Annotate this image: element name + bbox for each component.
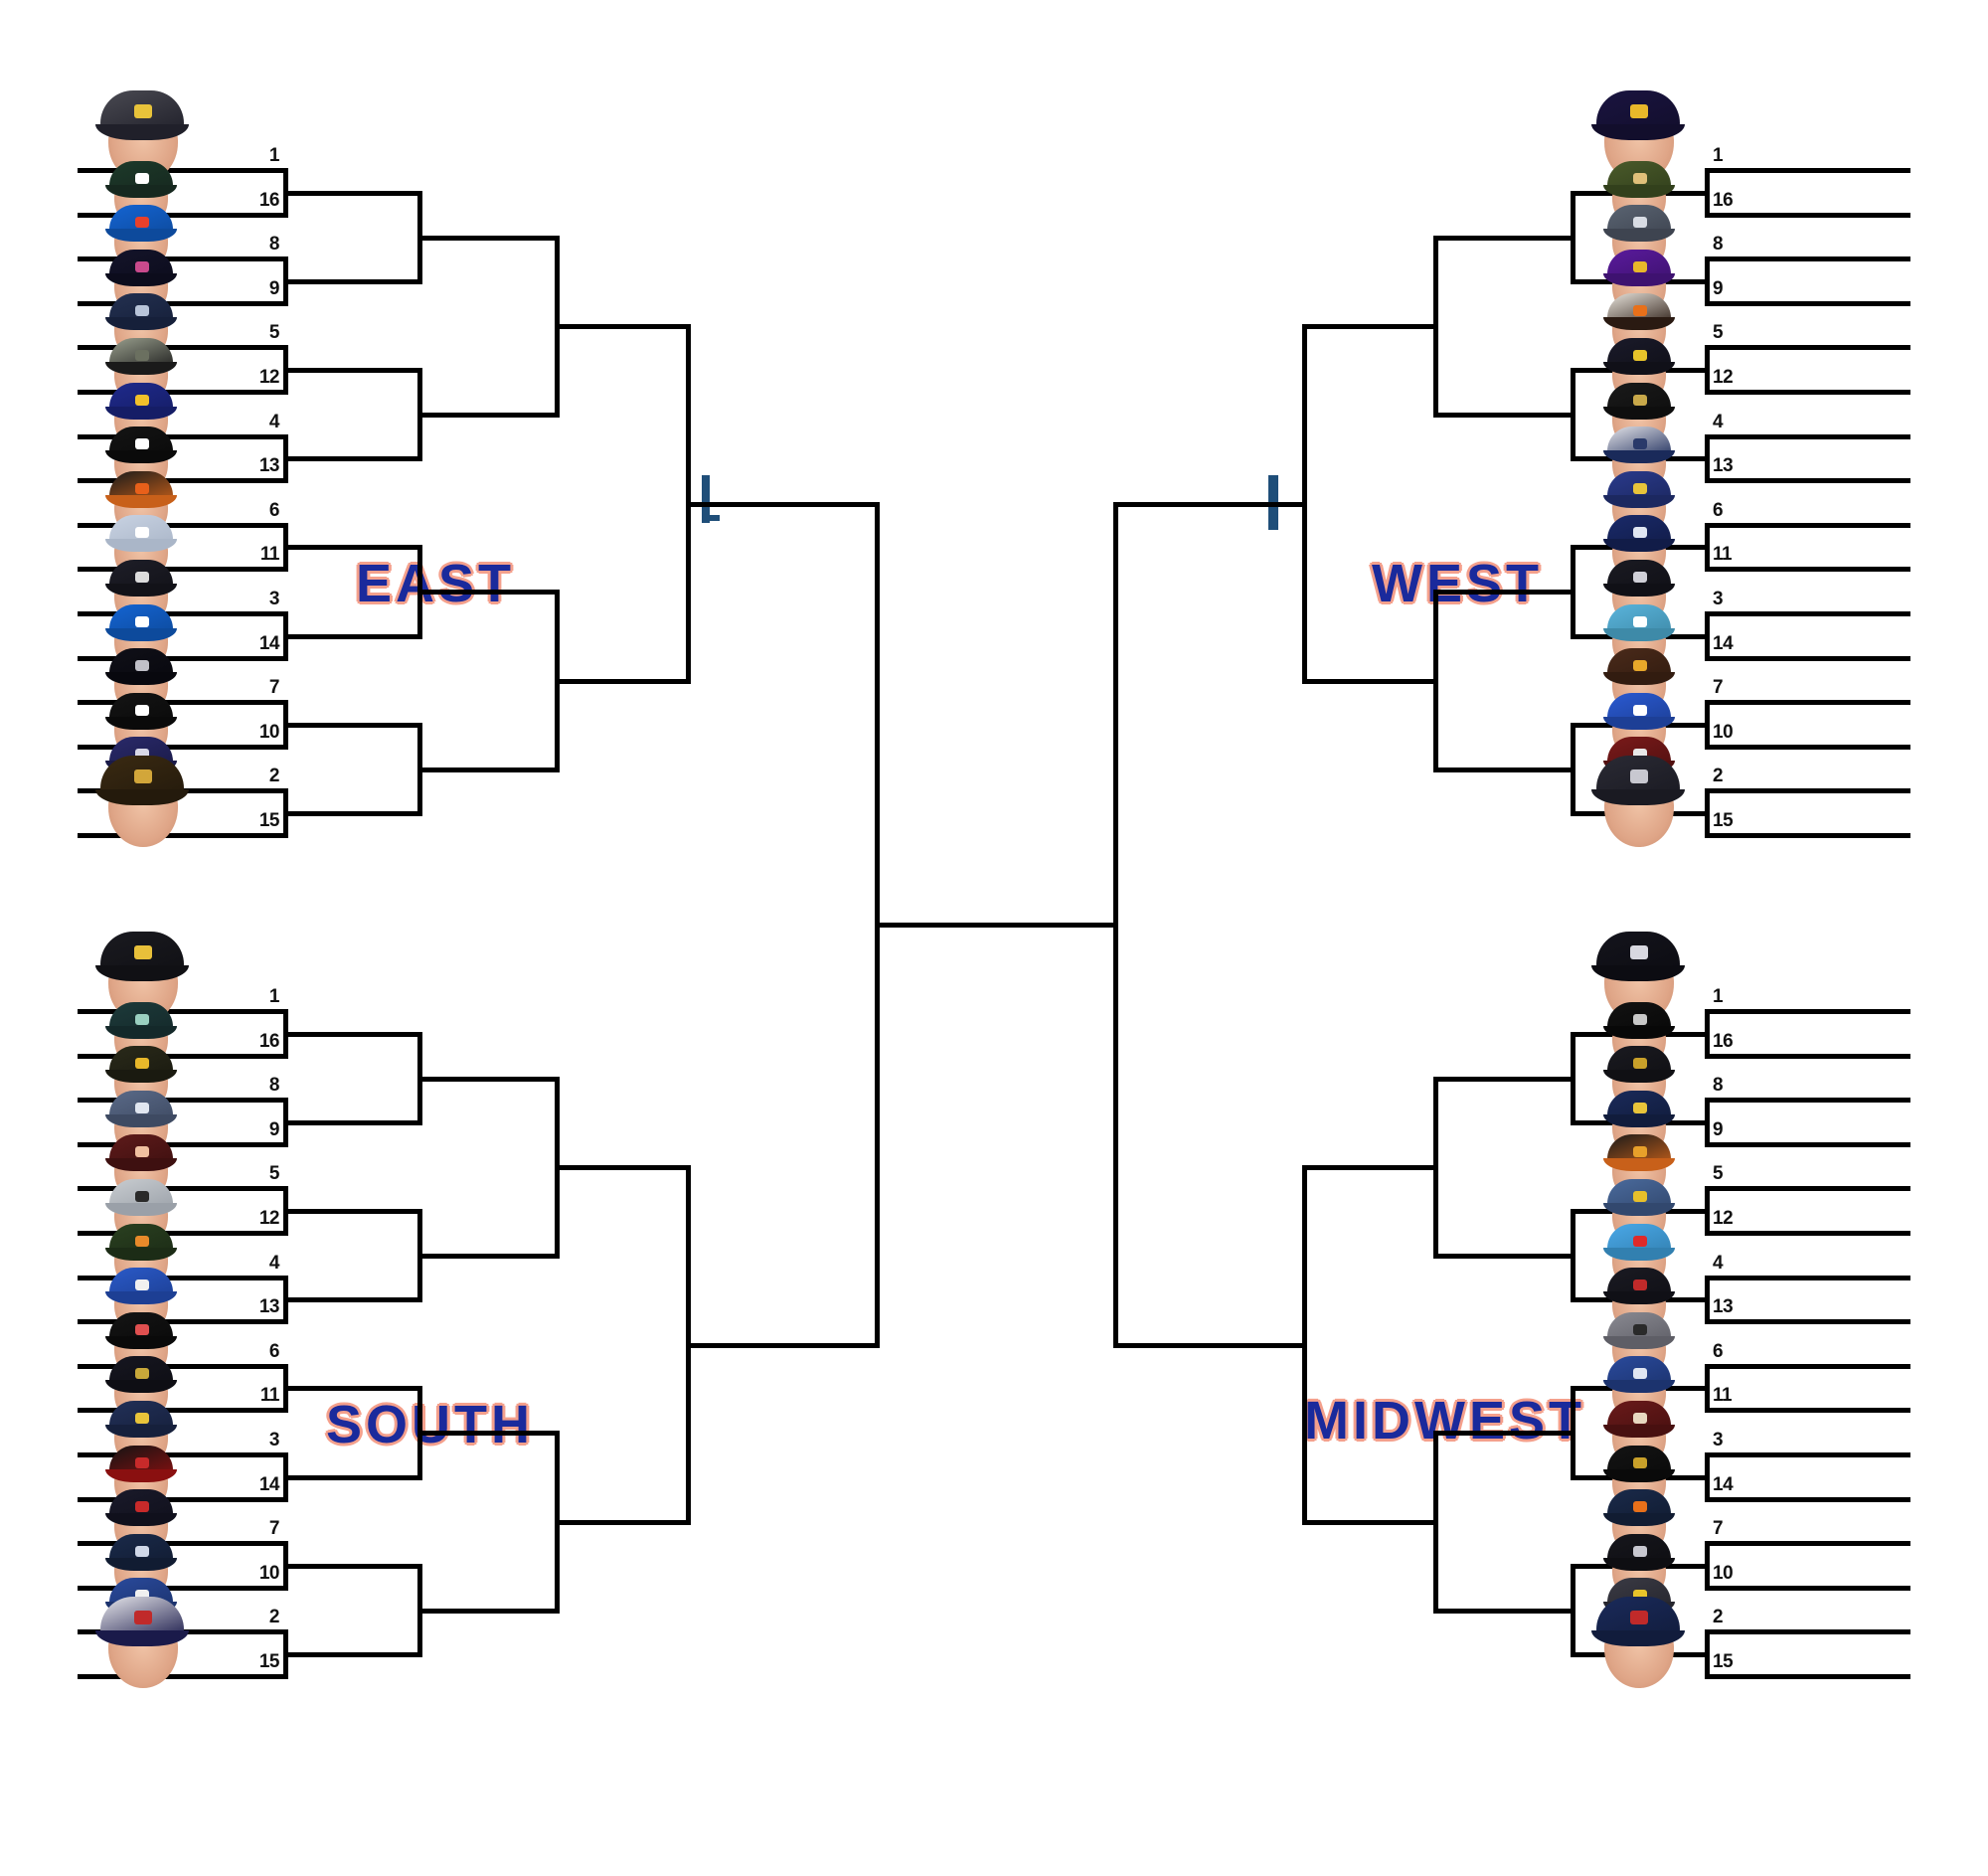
- portrait-face: [114, 1020, 168, 1070]
- bracket-connector-vertical: [1571, 545, 1575, 639]
- bracket-connector-horizontal: [1433, 413, 1571, 418]
- bracket-connector-horizontal: [994, 923, 1113, 928]
- cap-logo-icon: [1633, 749, 1647, 760]
- portrait-face: [1612, 1197, 1666, 1247]
- cap-logo-icon: [1633, 1058, 1647, 1069]
- seed-number: 1: [1713, 146, 1752, 165]
- region-label-midwest-text: MIDWEST: [1304, 1391, 1585, 1450]
- bracket-connector-vertical: [1705, 168, 1710, 218]
- contestant-portrait: [105, 640, 179, 718]
- portrait-face: [114, 311, 168, 361]
- baseball-cap-icon: [109, 648, 173, 682]
- portrait-face: [1612, 1152, 1666, 1202]
- bracket-connector-horizontal: [1302, 1520, 1433, 1525]
- cap-brim: [1603, 1602, 1675, 1615]
- portrait-face: [114, 1242, 168, 1291]
- baseball-cap-icon: [109, 338, 173, 372]
- cap-logo-icon: [1630, 769, 1648, 783]
- cap-brim: [1603, 584, 1675, 597]
- baseball-cap-icon: [109, 1446, 173, 1479]
- cap-brim: [105, 1513, 177, 1526]
- portrait-face: [114, 533, 168, 583]
- bracket-connector-horizontal: [283, 1209, 417, 1214]
- cap-logo-icon: [1633, 572, 1647, 583]
- bracket-connector-horizontal: [78, 788, 283, 793]
- contestant-portrait: [105, 1481, 179, 1559]
- bracket-connector-vertical: [1433, 1431, 1438, 1614]
- bracket-connector-vertical: [1433, 1077, 1438, 1259]
- baseball-cap-icon: [109, 604, 173, 638]
- seed-number: 5: [240, 1164, 279, 1183]
- portrait-face: [1612, 1419, 1666, 1468]
- cap-logo-icon: [1633, 438, 1647, 449]
- portrait-face: [114, 711, 168, 761]
- contestant-portrait: [105, 1570, 179, 1647]
- portrait-face: [1612, 356, 1666, 406]
- seed-number: 9: [1713, 1120, 1752, 1139]
- cap-logo-icon: [134, 769, 152, 783]
- seed-number: 3: [240, 1431, 279, 1450]
- portrait-face: [1612, 444, 1666, 494]
- bracket-connector-horizontal: [1571, 1564, 1705, 1569]
- bracket-connector-vertical: [1705, 1452, 1710, 1502]
- baseball-cap-icon: [109, 1534, 173, 1568]
- contestant-portrait: [1603, 552, 1677, 629]
- baseball-cap-icon: [109, 293, 173, 327]
- bracket-connector-horizontal: [1571, 1032, 1705, 1037]
- seed-number: 16: [1713, 1032, 1752, 1051]
- bracket-connector-horizontal: [875, 923, 994, 928]
- bracket-connector-horizontal: [555, 679, 686, 684]
- seed-number: 12: [1713, 1209, 1752, 1228]
- seed-number: 15: [240, 811, 279, 830]
- cap-brim: [105, 1203, 177, 1216]
- bracket-connector-horizontal: [283, 191, 417, 196]
- cap-brim: [105, 1114, 177, 1127]
- seed-number: 11: [1713, 1386, 1752, 1405]
- tournament-bracket: EAST SOUTH WEST MIDWEST 1168951241361131…: [0, 0, 1988, 1876]
- bracket-connector-horizontal: [283, 1652, 417, 1657]
- bracket-connector-vertical: [1433, 236, 1438, 418]
- seed-number: 7: [1713, 678, 1752, 697]
- seed-number: 2: [1713, 767, 1752, 785]
- cap-logo-icon: [135, 1146, 149, 1157]
- bracket-connector-vertical: [1302, 324, 1307, 684]
- baseball-cap-icon: [109, 1091, 173, 1124]
- cap-logo-icon: [135, 1236, 149, 1247]
- bracket-connector-horizontal: [78, 1408, 283, 1413]
- baseball-cap-icon: [109, 1578, 173, 1612]
- seed-number: 13: [240, 456, 279, 475]
- bracket-connector-vertical: [1705, 434, 1710, 483]
- seed-number: 1: [1713, 987, 1752, 1006]
- seed-number: 1: [240, 987, 279, 1006]
- portrait-face: [1612, 1463, 1666, 1513]
- cap-logo-icon: [135, 1103, 149, 1113]
- seed-number: 15: [1713, 1652, 1752, 1671]
- cap-brim: [105, 1291, 177, 1304]
- cap-brim: [105, 628, 177, 641]
- baseball-cap-icon: [100, 90, 184, 134]
- cap-logo-icon: [1633, 305, 1647, 316]
- cap-brim: [1603, 1070, 1675, 1083]
- baseball-cap-icon: [109, 383, 173, 417]
- baseball-cap-icon: [100, 932, 184, 975]
- bracket-connector-vertical: [1705, 523, 1710, 572]
- baseball-cap-icon: [1607, 1578, 1671, 1612]
- seed-number: 5: [240, 323, 279, 342]
- baseball-cap-icon: [109, 1356, 173, 1390]
- bracket-connector-horizontal: [78, 1319, 283, 1324]
- seed-number: 8: [240, 1076, 279, 1095]
- seed-number: 11: [1713, 545, 1752, 564]
- contestant-portrait: [105, 285, 179, 363]
- seed-number: 8: [240, 235, 279, 254]
- seed-number: 14: [1713, 634, 1752, 653]
- portrait-face: [114, 1596, 168, 1645]
- bracket-connector-horizontal: [1571, 545, 1705, 550]
- portrait-face: [114, 179, 168, 229]
- contestant-portrait: [105, 994, 179, 1072]
- bracket-connector-vertical: [1705, 1629, 1710, 1679]
- portrait-face: [1612, 1285, 1666, 1335]
- portrait-face: [1612, 223, 1666, 272]
- portrait-face: [114, 1552, 168, 1602]
- bracket-connector-horizontal: [78, 1276, 283, 1280]
- portrait-face: [114, 755, 168, 804]
- cap-logo-icon: [135, 395, 149, 406]
- cap-brim: [105, 672, 177, 685]
- portrait-face: [1612, 1330, 1666, 1380]
- baseball-cap-icon: [109, 1046, 173, 1080]
- cap-logo-icon: [1633, 705, 1647, 716]
- cap-brim: [105, 229, 177, 242]
- baseball-cap-icon: [1607, 1091, 1671, 1124]
- bracket-connector-horizontal: [283, 811, 417, 816]
- portrait-face: [114, 578, 168, 627]
- portrait-face: [1612, 311, 1666, 361]
- cap-logo-icon: [135, 1014, 149, 1025]
- bracket-connector-horizontal: [1705, 523, 1910, 528]
- cap-logo-icon: [1633, 1368, 1647, 1379]
- contestant-portrait: [1603, 1038, 1677, 1115]
- cap-logo-icon: [1633, 660, 1647, 671]
- cap-logo-icon: [1633, 616, 1647, 627]
- cap-brim: [95, 965, 189, 981]
- cap-logo-icon: [1633, 1236, 1647, 1247]
- cap-brim: [1603, 229, 1675, 242]
- bracket-connector-horizontal: [1705, 1186, 1910, 1191]
- bracket-connector-horizontal: [417, 236, 555, 241]
- baseball-cap-icon: [1607, 1002, 1671, 1036]
- cap-brim: [1603, 1513, 1675, 1526]
- portrait-face: [1612, 533, 1666, 583]
- baseball-cap-icon: [1607, 1534, 1671, 1568]
- cap-logo-icon: [135, 217, 149, 228]
- bracket-connector-vertical: [1571, 1032, 1575, 1125]
- portrait-face: [1612, 1242, 1666, 1291]
- baseball-cap-icon: [109, 1179, 173, 1213]
- cap-logo-icon: [1633, 1014, 1647, 1025]
- baseball-cap-icon: [1607, 471, 1671, 505]
- bracket-connector-horizontal: [1571, 191, 1705, 196]
- cap-logo-icon: [1630, 1611, 1648, 1624]
- bracket-connector-horizontal: [283, 279, 417, 284]
- cap-brim: [1603, 1336, 1675, 1349]
- bracket-connector-horizontal: [417, 1254, 555, 1259]
- seed-number: 4: [1713, 1254, 1752, 1273]
- cap-logo-icon: [1633, 1324, 1647, 1335]
- contestant-portrait: [105, 507, 179, 585]
- seed-number: 6: [240, 1342, 279, 1361]
- bracket-connector-horizontal: [283, 1032, 417, 1037]
- portrait-face: [1612, 1109, 1666, 1158]
- bracket-connector-horizontal: [1705, 1497, 1910, 1502]
- bracket-connector-horizontal: [1705, 390, 1910, 395]
- portrait-face: [1612, 1596, 1666, 1645]
- bracket-connector-horizontal: [555, 1520, 686, 1525]
- contestant-portrait: [1603, 375, 1677, 452]
- bracket-connector-horizontal: [1571, 811, 1705, 816]
- baseball-cap-icon: [1596, 90, 1680, 134]
- cap-brim: [105, 495, 177, 508]
- seed-number: 13: [1713, 456, 1752, 475]
- bracket-connector-horizontal: [78, 1586, 283, 1591]
- contestant-portrait: [1591, 1589, 1687, 1692]
- bracket-connector-horizontal: [78, 1231, 283, 1236]
- cap-logo-icon: [1633, 1546, 1647, 1557]
- bracket-connector-horizontal: [1113, 1343, 1302, 1348]
- cap-brim: [105, 185, 177, 198]
- baseball-cap-icon: [109, 1489, 173, 1523]
- baseball-cap-icon: [1607, 560, 1671, 594]
- seed-number: 9: [1713, 279, 1752, 298]
- cap-brim: [1591, 789, 1685, 805]
- seed-number: 10: [1713, 723, 1752, 742]
- cap-brim: [105, 1469, 177, 1482]
- bracket-connector-horizontal: [283, 1386, 417, 1391]
- bracket-connector-horizontal: [417, 1077, 555, 1082]
- bracket-connector-horizontal: [1705, 1629, 1910, 1634]
- cap-logo-icon: [135, 660, 149, 671]
- cap-logo-icon: [134, 945, 152, 959]
- bracket-connector-vertical: [1705, 1009, 1710, 1059]
- baseball-cap-icon: [1607, 1489, 1671, 1523]
- cap-brim: [1603, 672, 1675, 685]
- contestant-portrait: [105, 1216, 179, 1293]
- seed-number: 10: [240, 1564, 279, 1583]
- cap-brim: [1591, 124, 1685, 140]
- cap-logo-icon: [1630, 104, 1648, 118]
- bracket-connector-horizontal: [1705, 656, 1910, 661]
- baseball-cap-icon: [1607, 515, 1671, 549]
- seed-number: 13: [1713, 1297, 1752, 1316]
- bracket-connector-horizontal: [1113, 502, 1302, 507]
- region-label-west: WEST: [1372, 553, 1543, 614]
- portrait-face: [1612, 1064, 1666, 1113]
- baseball-cap-icon: [109, 426, 173, 460]
- seed-number: 5: [1713, 323, 1752, 342]
- baseball-cap-icon: [1607, 1446, 1671, 1479]
- cap-logo-icon: [135, 572, 149, 583]
- bracket-connector-horizontal: [1571, 279, 1705, 284]
- bracket-connector-horizontal: [78, 1054, 283, 1059]
- contestant-portrait: [1591, 83, 1687, 186]
- bracket-connector-horizontal: [417, 590, 555, 595]
- contestant-portrait: [105, 597, 179, 674]
- baseball-cap-icon: [109, 737, 173, 770]
- cap-logo-icon: [1633, 173, 1647, 184]
- bracket-connector-horizontal: [78, 611, 283, 616]
- bracket-connector-horizontal: [1705, 478, 1910, 483]
- baseball-cap-icon: [109, 205, 173, 239]
- cap-logo-icon: [135, 1413, 149, 1424]
- bracket-connector-horizontal: [78, 478, 283, 483]
- seed-number: 6: [1713, 1342, 1752, 1361]
- bracket-connector-vertical: [1705, 1541, 1710, 1591]
- portrait-face: [114, 489, 168, 539]
- bracket-connector-horizontal: [1705, 1231, 1910, 1236]
- baseball-cap-icon: [1607, 383, 1671, 417]
- baseball-cap-icon: [1607, 1312, 1671, 1346]
- cap-brim: [105, 761, 177, 773]
- cap-brim: [105, 1380, 177, 1393]
- bracket-connector-horizontal: [1571, 1297, 1705, 1302]
- seed-number: 2: [1713, 1608, 1752, 1626]
- portrait-face: [1612, 711, 1666, 761]
- contestant-portrait: [105, 1438, 179, 1515]
- portrait-face: [1612, 401, 1666, 450]
- contestant-portrait: [105, 729, 179, 806]
- baseball-cap-icon: [109, 1224, 173, 1258]
- bracket-connector-horizontal: [417, 767, 555, 772]
- cap-logo-icon: [135, 305, 149, 316]
- portrait-face: [114, 1109, 168, 1158]
- seed-number: 12: [1713, 368, 1752, 387]
- cap-brim: [1603, 407, 1675, 420]
- cap-logo-icon: [1633, 1413, 1647, 1424]
- cap-logo-icon: [1633, 1146, 1647, 1157]
- seed-number: 3: [240, 590, 279, 608]
- cap-logo-icon: [135, 1324, 149, 1335]
- cap-brim: [1591, 1630, 1685, 1646]
- bracket-connector-horizontal: [78, 390, 283, 395]
- region-label-south: SOUTH: [326, 1394, 534, 1455]
- bracket-connector-horizontal: [78, 168, 283, 173]
- baseball-cap-icon: [1607, 338, 1671, 372]
- seed-number: 12: [240, 1209, 279, 1228]
- bracket-connector-horizontal: [283, 456, 417, 461]
- contestant-portrait: [105, 1304, 179, 1382]
- bracket-connector-horizontal: [1705, 1408, 1910, 1413]
- cap-brim: [1603, 1158, 1675, 1171]
- cap-logo-icon: [1630, 945, 1648, 959]
- bracket-connector-horizontal: [78, 1541, 283, 1546]
- contestant-portrait: [105, 153, 179, 231]
- region-label-east: EAST: [356, 553, 515, 614]
- portrait-face: [1612, 755, 1666, 804]
- baseball-cap-icon: [1607, 648, 1671, 682]
- bracket-connector-horizontal: [1705, 567, 1910, 572]
- bracket-connector-horizontal: [78, 656, 283, 661]
- contestant-portrait: [105, 375, 179, 452]
- cap-logo-icon: [135, 616, 149, 627]
- bracket-connector-horizontal: [1705, 700, 1910, 705]
- bracket-connector-horizontal: [1571, 1386, 1705, 1391]
- region-label-east-text: EAST: [356, 554, 515, 613]
- bracket-connector-horizontal: [1705, 1142, 1910, 1147]
- contestant-portrait: [105, 1526, 179, 1604]
- bracket-connector-horizontal: [1705, 1586, 1910, 1591]
- portrait-face: [1604, 116, 1674, 182]
- baseball-cap-icon: [1607, 1179, 1671, 1213]
- cap-logo-icon: [135, 1590, 149, 1601]
- bracket-connector-vertical: [1571, 1209, 1575, 1302]
- seed-number: 14: [1713, 1475, 1752, 1494]
- bracket-connector-horizontal: [283, 1475, 417, 1480]
- bracket-connector-horizontal: [1571, 1120, 1705, 1125]
- bracket-connector-horizontal: [417, 1431, 555, 1436]
- cap-logo-icon: [1633, 395, 1647, 406]
- seed-number: 2: [240, 1608, 279, 1626]
- portrait-face: [1612, 1020, 1666, 1070]
- baseball-cap-icon: [109, 471, 173, 505]
- bracket-connector-horizontal: [686, 502, 875, 507]
- bracket-connector-vertical: [1705, 611, 1710, 661]
- bracket-connector-horizontal: [78, 301, 283, 306]
- baseball-cap-icon: [109, 1002, 173, 1036]
- cap-brim: [1603, 1425, 1675, 1438]
- seed-number: 16: [240, 191, 279, 210]
- portrait-face: [114, 444, 168, 494]
- baseball-cap-icon: [1607, 250, 1671, 283]
- contestant-portrait: [105, 330, 179, 408]
- baseball-cap-icon: [1607, 1268, 1671, 1301]
- seed-number: 7: [240, 678, 279, 697]
- baseball-cap-icon: [1607, 604, 1671, 638]
- seed-number: 14: [240, 634, 279, 653]
- cap-brim: [105, 1248, 177, 1261]
- bracket-connector-horizontal: [1705, 213, 1910, 218]
- bracket-connector-horizontal: [1705, 1009, 1910, 1014]
- seed-number: 4: [1713, 413, 1752, 431]
- bracket-connector-horizontal: [1705, 1276, 1910, 1280]
- bracket-connector-horizontal: [1705, 1452, 1910, 1457]
- portrait-face: [114, 1419, 168, 1468]
- cap-logo-icon: [135, 527, 149, 538]
- cap-brim: [105, 1602, 177, 1615]
- portrait-face: [1612, 1374, 1666, 1424]
- bracket-connector-horizontal: [1705, 611, 1910, 616]
- bracket-connector-horizontal: [417, 413, 555, 418]
- baseball-cap-icon: [1607, 693, 1671, 727]
- bracket-connector-horizontal: [1705, 1541, 1910, 1546]
- bracket-connector-vertical: [1433, 590, 1438, 772]
- bracket-connector-vertical: [1705, 788, 1710, 838]
- cap-logo-icon: [134, 1611, 152, 1624]
- region-label-south-text: SOUTH: [326, 1395, 534, 1454]
- cap-brim: [1603, 495, 1675, 508]
- cap-brim: [105, 717, 177, 730]
- contestant-portrait: [1591, 748, 1687, 851]
- seed-number: 10: [1713, 1564, 1752, 1583]
- bracket-connector-horizontal: [1571, 634, 1705, 639]
- bracket-connector-horizontal: [283, 545, 417, 550]
- portrait-face: [114, 1152, 168, 1202]
- contestant-portrait: [105, 1393, 179, 1470]
- bracket-connector-horizontal: [1705, 168, 1910, 173]
- bracket-connector-horizontal: [1705, 1054, 1910, 1059]
